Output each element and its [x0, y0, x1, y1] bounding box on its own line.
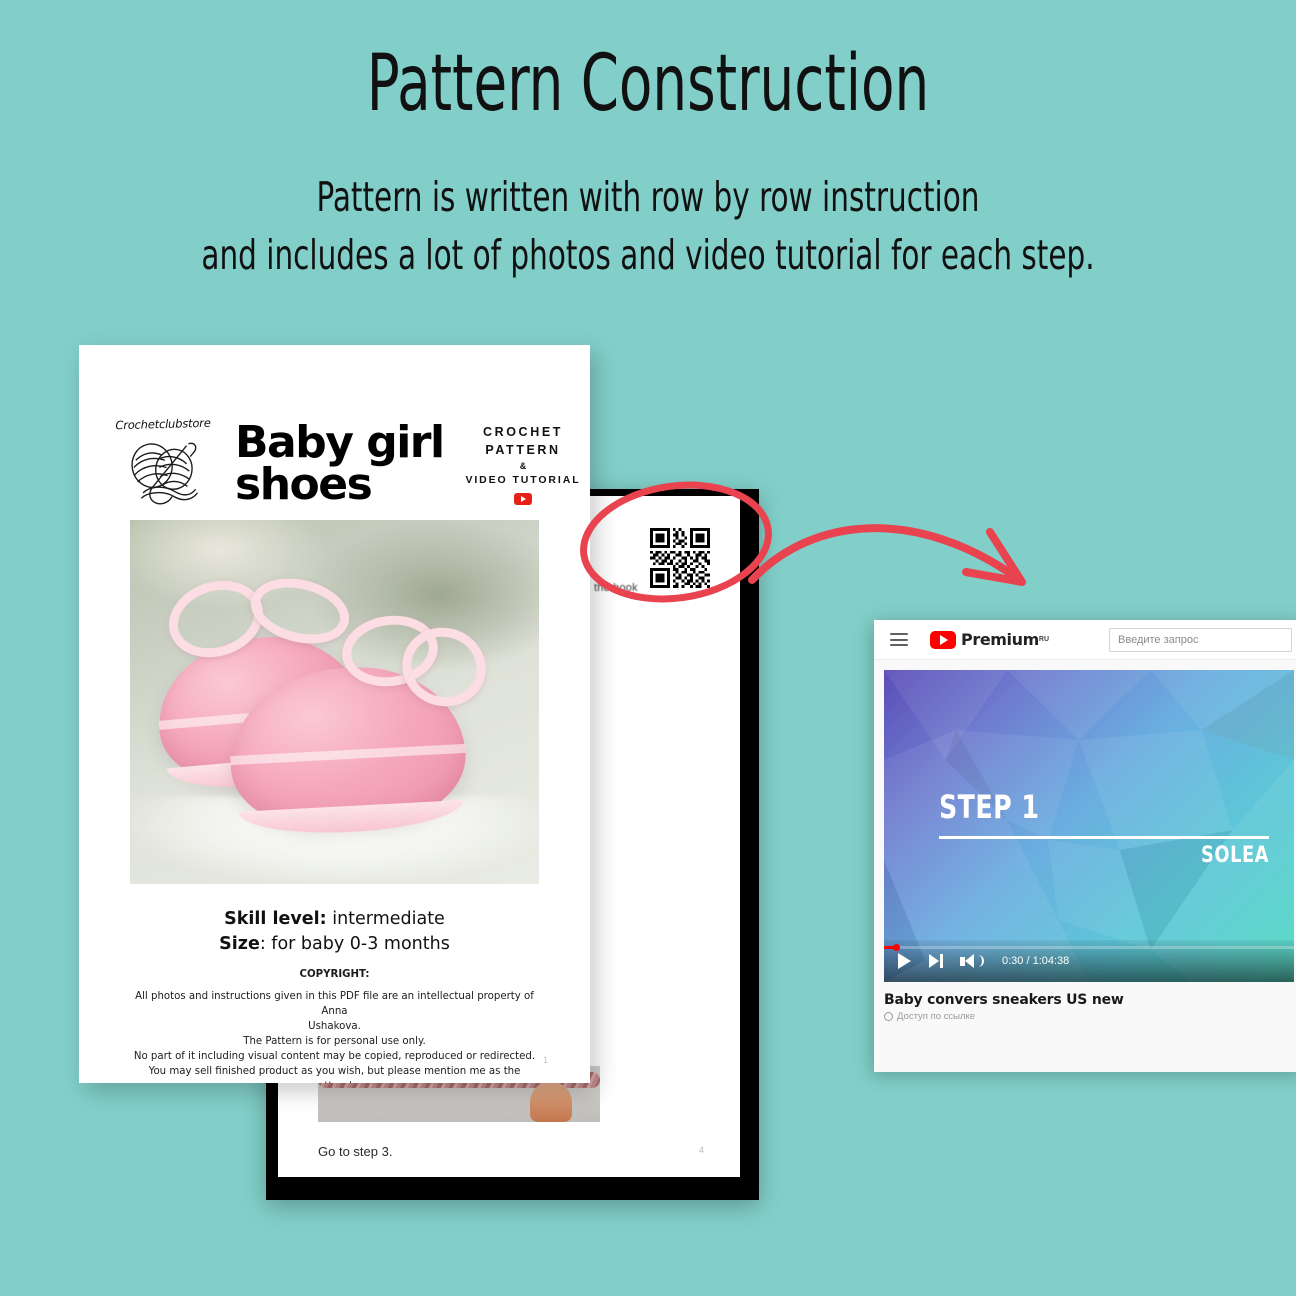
skill-level-label: Skill level:: [224, 909, 326, 929]
youtube-top-bar: PremiumRU Введите запрос: [874, 620, 1296, 660]
copyright-line: All photos and instructions given in thi…: [125, 989, 544, 1019]
copyright-line: You may sell finished product as you wis…: [125, 1064, 544, 1083]
copyright-line: No part of it including visual content m…: [125, 1049, 544, 1064]
youtube-play-icon: [514, 493, 532, 505]
time-display: 0:30 / 1:04:38: [1002, 955, 1069, 967]
badge-pattern: PATTERN: [464, 441, 582, 459]
yarn-ball-crochet-hook-icon: [117, 433, 209, 511]
next-video-icon[interactable]: [929, 954, 943, 968]
pdf-page-number: 1: [543, 1055, 548, 1065]
shoe-welt: [230, 744, 465, 765]
pattern-type-badge: CROCHET PATTERN & VIDEO TUTORIAL: [464, 423, 590, 505]
youtube-browser-window[interactable]: PremiumRU Введите запрос: [874, 620, 1296, 1072]
pdf-cover-page[interactable]: Crochetclubstore: [79, 345, 590, 1083]
step-label: STEP 1: [939, 788, 1039, 826]
video-visibility-row: Доступ по ссылке: [884, 1011, 1294, 1022]
video-title[interactable]: Baby convers sneakers US new: [884, 992, 1294, 1008]
subtitle-line-1: Pattern is written with row by row instr…: [130, 168, 1167, 226]
size-value: : for baby 0-3 months: [260, 934, 450, 954]
page-title: Pattern Construction: [143, 36, 1154, 132]
size-row: Size: for baby 0-3 months: [79, 932, 590, 957]
search-placeholder: Введите запрос: [1118, 634, 1198, 646]
copyright-title: COPYRIGHT:: [125, 967, 544, 982]
youtube-logo-region: RU: [1039, 636, 1049, 643]
copyright-block: COPYRIGHT: All photos and instructions g…: [125, 967, 544, 1083]
copyright-line: Ushakova.: [125, 1019, 544, 1034]
progress-scrubber[interactable]: [893, 944, 900, 951]
link-icon: [884, 1012, 893, 1021]
step-divider: [939, 836, 1269, 839]
badge-ampersand: &: [464, 459, 582, 473]
copyright-line: The Pattern is for personal use only.: [125, 1034, 544, 1049]
brand-block: Crochetclubstore: [79, 417, 229, 511]
video-player[interactable]: STEP 1 SOLEA 0:30 / 1:04:38: [884, 670, 1294, 982]
size-label: Size: [219, 934, 260, 954]
hand-finger: [530, 1082, 572, 1122]
mid-page-number: 4: [699, 1145, 704, 1155]
search-input[interactable]: Введите запрос: [1109, 628, 1292, 652]
progress-bar[interactable]: [884, 946, 1294, 949]
youtube-logo-text: Premium: [961, 630, 1039, 649]
volume-icon[interactable]: [961, 954, 984, 968]
youtube-content-area: STEP 1 SOLEA 0:30 / 1:04:38 Baby convers…: [874, 660, 1296, 1072]
skill-level-row: Skill level: intermediate: [79, 907, 590, 932]
subtitle-line-2: and includes a lot of photos and video t…: [130, 226, 1167, 284]
play-icon[interactable]: [898, 953, 911, 969]
pdf-title: Baby girl shoes: [229, 422, 464, 506]
red-arrow-head: [966, 532, 1022, 582]
skill-and-size-block: Skill level: intermediate Size: for baby…: [79, 907, 590, 957]
badge-video-tutorial: VIDEO TUTORIAL: [464, 473, 582, 488]
video-visibility-label: Доступ по ссылке: [897, 1011, 975, 1022]
hamburger-menu-icon[interactable]: [890, 633, 908, 646]
step-subtitle: SOLEA: [972, 843, 1269, 868]
mid-page-partial-text: the hook: [594, 582, 638, 594]
red-arrow-to-youtube: [752, 528, 1020, 580]
go-to-step-text: Go to step 3.: [318, 1144, 392, 1159]
youtube-play-icon: [930, 631, 956, 649]
badge-crochet: CROCHET: [464, 423, 582, 441]
player-controls[interactable]: 0:30 / 1:04:38: [884, 940, 1294, 982]
video-title-card: STEP 1 SOLEA: [939, 788, 1294, 868]
pdf-title-line-2: shoes: [235, 464, 464, 506]
skill-level-value: intermediate: [332, 909, 445, 929]
pdf-header: Crochetclubstore: [79, 405, 590, 523]
qr-code[interactable]: [650, 528, 710, 588]
brand-name: Crochetclubstore: [97, 415, 229, 432]
page-subtitle: Pattern is written with row by row instr…: [130, 168, 1167, 284]
youtube-premium-logo[interactable]: PremiumRU: [930, 630, 1049, 649]
baby-shoes-photo: [130, 520, 539, 884]
